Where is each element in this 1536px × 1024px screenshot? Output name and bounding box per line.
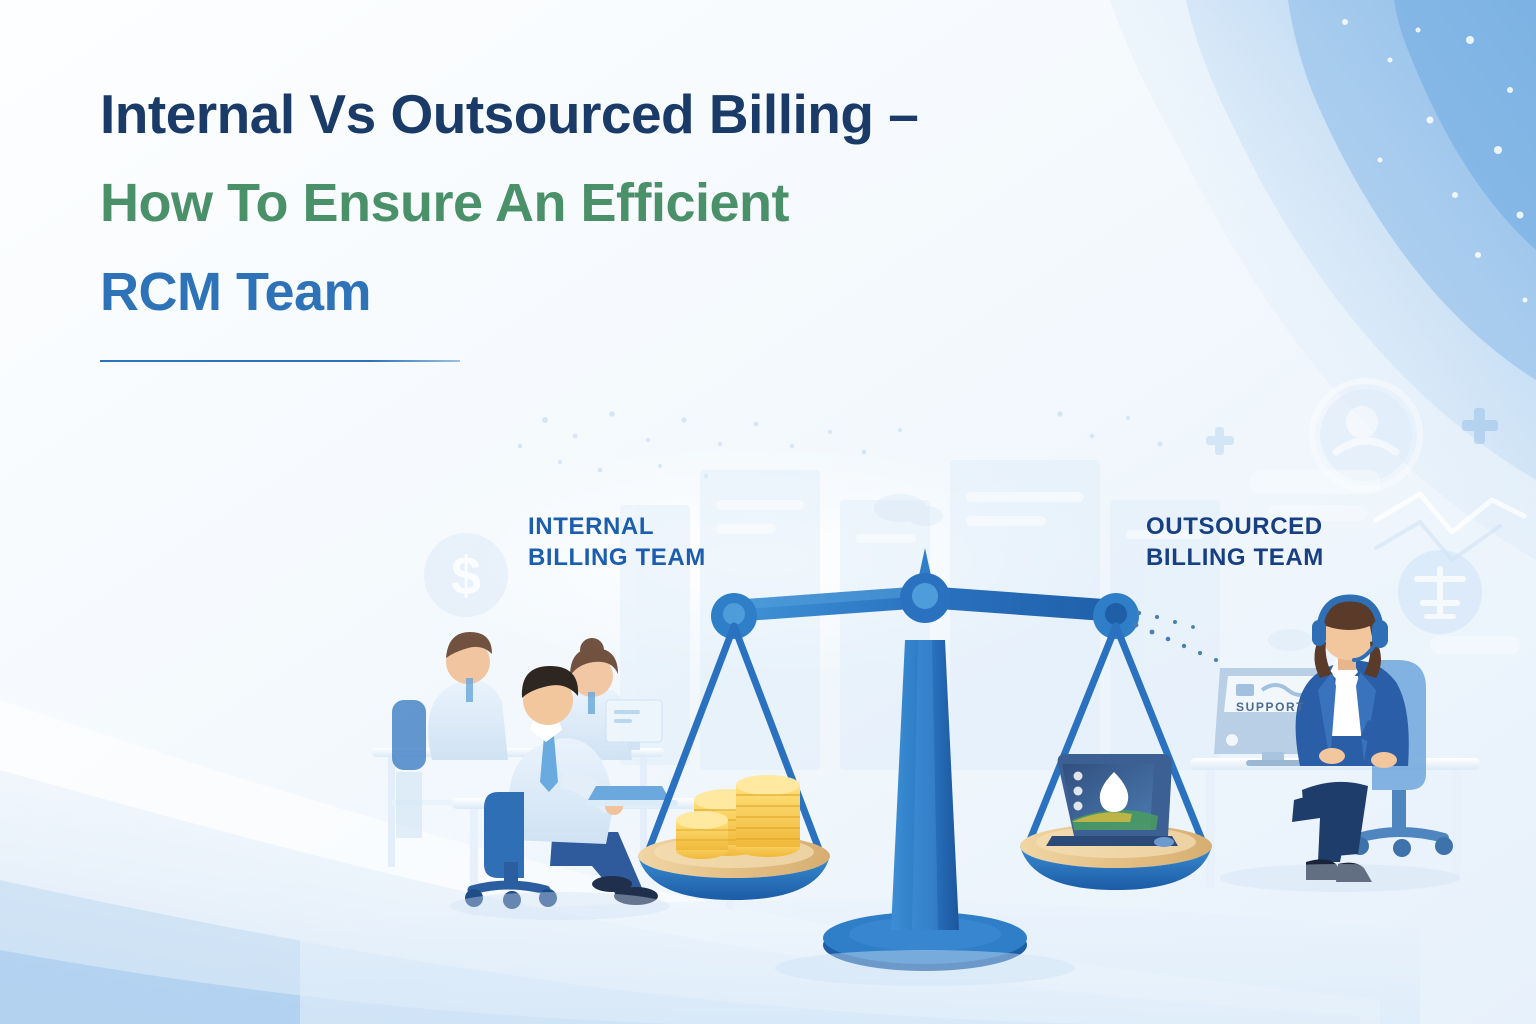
headline-line-3: RCM Team [100, 265, 1160, 320]
outsourced-billing-team-label: OUTSOURCED BILLING TEAM [1146, 512, 1324, 573]
outsourced-label-line-2: BILLING TEAM [1146, 543, 1324, 574]
support-agent [1292, 598, 1409, 882]
headline-block: Internal Vs Outsourced Billing – How To … [100, 86, 1160, 362]
internal-label-line-1: INTERNAL [528, 512, 706, 543]
headline-line-1: Internal Vs Outsourced Billing – [100, 86, 1160, 142]
hero-banner: $ [0, 0, 1536, 1024]
internal-billing-team-label: INTERNAL BILLING TEAM [528, 512, 706, 573]
monitor-support-text: SUPPORT [1236, 700, 1305, 714]
balance-scale [638, 548, 1218, 971]
headline-divider [100, 360, 460, 362]
internal-label-line-2: BILLING TEAM [528, 543, 706, 574]
headline-line-2: How To Ensure An Efficient [100, 176, 1160, 231]
motion-dots [1134, 611, 1218, 662]
outsourced-label-line-1: OUTSOURCED [1146, 512, 1324, 543]
outsourced-team-illustration [1190, 598, 1480, 888]
coin-stacks [676, 775, 800, 859]
